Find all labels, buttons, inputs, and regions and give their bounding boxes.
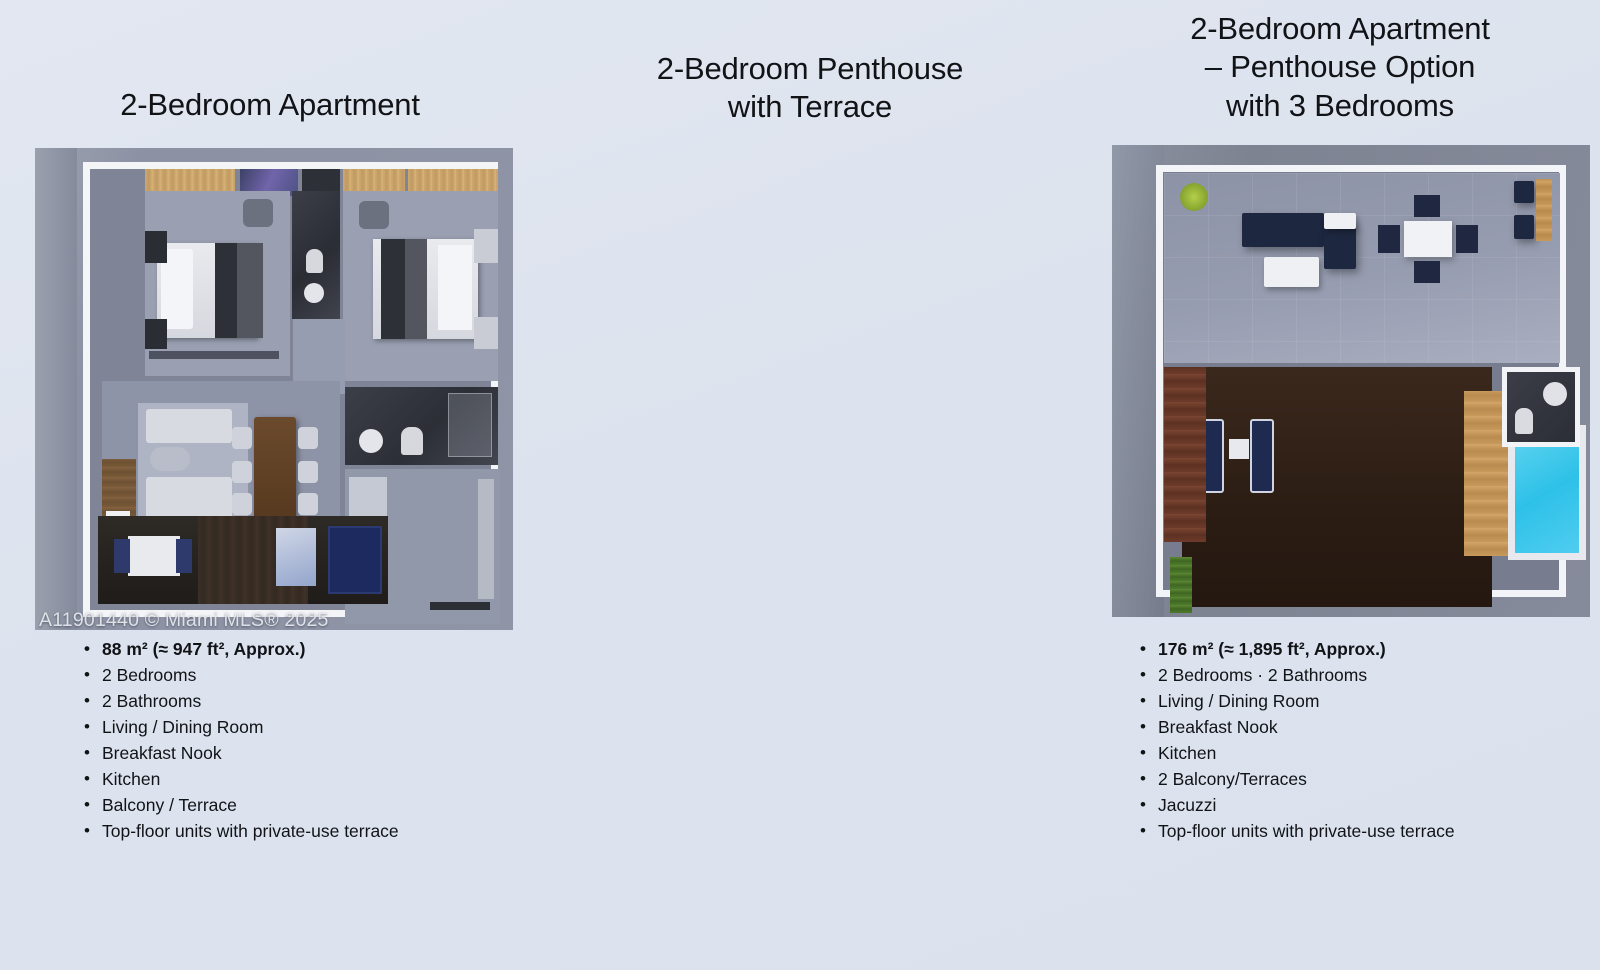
cushion-icon (1324, 213, 1356, 229)
side-wood-deck (1164, 367, 1206, 542)
chair-icon (232, 427, 252, 449)
toilet-icon (401, 427, 423, 455)
tile-pattern (1164, 173, 1560, 363)
page-title-penthouse: 2-Bedroom Penthouse with Terrace (540, 0, 1080, 127)
dining-table-icon (1404, 221, 1452, 257)
floor-plan-image-penthouse (1112, 145, 1590, 617)
spec-item: 2 Bathrooms (80, 693, 399, 711)
chair-icon (1414, 261, 1440, 283)
room-bedroom-b (343, 191, 498, 381)
rug-icon (149, 351, 279, 359)
room-lower-terrace-deck (1182, 367, 1492, 607)
sink-icon (359, 429, 383, 453)
chair-icon (232, 461, 252, 483)
spec-item: Balcony / Terrace (80, 797, 399, 815)
sofa-icon (146, 409, 232, 443)
mls-watermark: A11901440 © Miami MLS® 2025 (39, 609, 329, 630)
sink-icon (304, 283, 324, 303)
side-table-icon (1229, 439, 1249, 459)
nightstand-icon (474, 317, 498, 349)
column-penthouse-3bed: 2-Bedroom Apartment – Penthouse Option w… (1080, 0, 1600, 125)
wood-panel-icon (1536, 179, 1552, 241)
render-shadow (35, 148, 77, 630)
sofa-icon (1242, 213, 1324, 247)
chair-icon (232, 493, 252, 515)
room-bathroom-1 (292, 191, 340, 319)
spec-item: 2 Bedrooms · 2 Bathrooms (1136, 667, 1455, 685)
ottoman-icon (1264, 257, 1319, 287)
blanket-icon (215, 243, 237, 338)
title-line-1: 2-Bedroom Apartment (1102, 10, 1578, 48)
pouf-icon (243, 199, 273, 227)
title-line-1: 2-Bedroom Penthouse (580, 50, 1040, 88)
floor-plan-image-apartment: A11901440 © Miami MLS® 2025 (35, 148, 513, 630)
outdoor-chair-icon (176, 539, 192, 573)
nightstand-icon (145, 319, 167, 349)
spec-item: 2 Balcony/Terraces (1136, 771, 1455, 789)
planter-icon (1514, 181, 1534, 203)
room-upper-terrace (1164, 173, 1560, 363)
room-terrace-bathroom (1502, 367, 1580, 447)
spec-item: Living / Dining Room (80, 719, 399, 737)
spec-item: Top-floor units with private-use terrace (1136, 823, 1455, 841)
coffee-table-icon (150, 447, 190, 471)
room-bedroom-a (145, 191, 290, 376)
blanket-icon (381, 239, 405, 339)
sink-icon (1543, 382, 1567, 406)
chair-icon (1456, 225, 1478, 253)
sofa-icon (146, 477, 232, 519)
breakfast-nook-icon (430, 602, 490, 610)
apartment-outer-walls (83, 162, 498, 617)
spec-item: 88 m² (≈ 947 ft², Approx.) (80, 641, 399, 659)
title-line-2: – Penthouse Option (1102, 48, 1578, 86)
column-penthouse: 2-Bedroom Penthouse with Terrace (540, 0, 1080, 127)
kitchen-island-icon (478, 479, 494, 599)
chair-icon (298, 461, 318, 483)
spec-item: Living / Dining Room (1136, 693, 1455, 711)
pouf-icon (359, 201, 389, 229)
chair-icon (1378, 225, 1400, 253)
blanket-secondary-icon (237, 243, 263, 338)
outdoor-table-icon (128, 536, 180, 576)
planter-icon (1514, 215, 1534, 239)
dining-table-icon (254, 417, 296, 527)
spec-list-penthouse: 176 m² (≈ 1,895 ft², Approx.) 2 Bedrooms… (1136, 641, 1455, 849)
plant-icon (1180, 183, 1208, 211)
spec-list-apartment: 88 m² (≈ 947 ft², Approx.) 2 Bedrooms 2 … (80, 641, 399, 849)
toilet-icon (306, 249, 323, 273)
spec-item: Kitchen (80, 771, 399, 789)
title-line-3: with 3 Bedrooms (1102, 87, 1578, 125)
spec-item: Top-floor units with private-use terrace (80, 823, 399, 841)
pillow-icon (438, 245, 472, 330)
shower-icon (448, 393, 492, 457)
spec-item: 176 m² (≈ 1,895 ft², Approx.) (1136, 641, 1455, 659)
title-line-2: with Terrace (580, 88, 1040, 126)
chair-icon (298, 427, 318, 449)
spec-item: 2 Bedrooms (80, 667, 399, 685)
floor-plan-comparison-page: 2-Bedroom Apartment (0, 0, 1600, 970)
outdoor-chair-icon (114, 539, 130, 573)
column-apartment: 2-Bedroom Apartment (0, 0, 540, 124)
nightstand-icon (474, 229, 498, 263)
nightstand-icon (145, 231, 167, 263)
spec-item: Breakfast Nook (80, 745, 399, 763)
grass-strip-icon (1170, 557, 1192, 613)
lounger-icon (1250, 419, 1274, 493)
chair-icon (1414, 195, 1440, 217)
page-title-penthouse-3bed: 2-Bedroom Apartment – Penthouse Option w… (1080, 0, 1600, 125)
outdoor-cabinet-icon (328, 526, 382, 594)
lounge-chair-icon (276, 528, 316, 586)
chair-icon (298, 493, 318, 515)
spec-item: Kitchen (1136, 745, 1455, 763)
room-bathroom-2 (345, 387, 498, 465)
toilet-icon (1515, 408, 1533, 434)
room-balcony-terrace (98, 516, 388, 604)
blanket-secondary-icon (405, 239, 427, 339)
page-title-apartment: 2-Bedroom Apartment (0, 0, 540, 124)
spec-item: Jacuzzi (1136, 797, 1455, 815)
spec-item: Breakfast Nook (1136, 719, 1455, 737)
